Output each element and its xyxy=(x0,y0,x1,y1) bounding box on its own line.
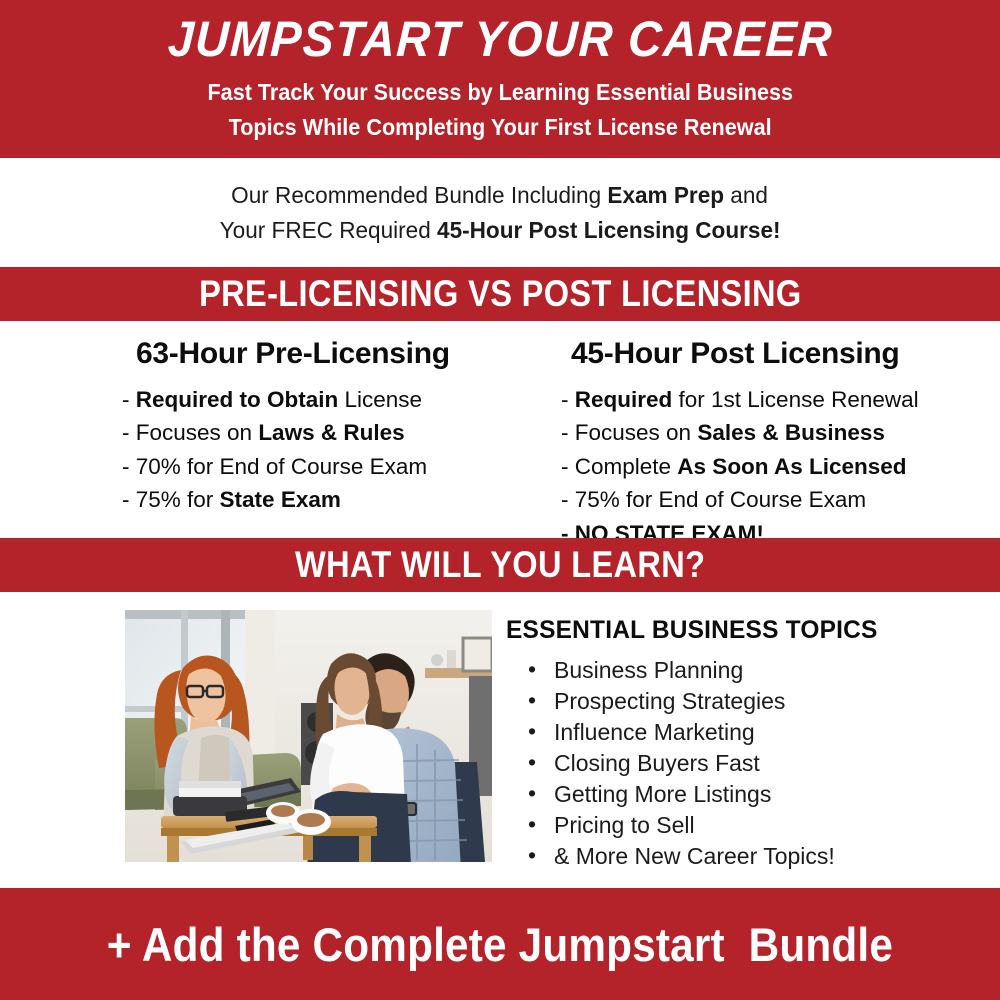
item-prefix: - 75% for End of Course Exam xyxy=(561,487,866,512)
consultation-photo xyxy=(125,610,492,862)
list-item: Getting More Listings xyxy=(528,779,976,810)
list-item: - Complete As Soon As Licensed xyxy=(561,450,1000,483)
learn-banner-title: WHAT WILL YOU LEARN? xyxy=(295,544,705,586)
compare-section-banner: PRE-LICENSING VS POST LICENSING xyxy=(0,267,1000,321)
comparison-section: 63-Hour Pre-Licensing - Required to Obta… xyxy=(0,321,1000,538)
item-bold: Required xyxy=(575,387,673,412)
list-item: Pricing to Sell xyxy=(528,810,976,841)
list-item: - 75% for End of Course Exam xyxy=(561,483,1000,516)
item-suffix: for 1st License Renewal xyxy=(672,387,918,412)
list-item: Closing Buyers Fast xyxy=(528,748,976,779)
list-item: Prospecting Strategies xyxy=(528,686,976,717)
hero-subtitle-line-2: Topics While Completing Your First Licen… xyxy=(228,111,771,144)
infographic-page: JUMPSTART YOUR CAREER Fast Track Your Su… xyxy=(0,0,1000,1000)
list-item: Influence Marketing xyxy=(528,717,976,748)
item-prefix: - xyxy=(561,387,575,412)
learn-section: ESSENTIAL BUSINESS TOPICS Business Plann… xyxy=(0,592,1000,888)
topics-heading: ESSENTIAL BUSINESS TOPICS xyxy=(506,616,967,645)
add-bundle-cta-banner[interactable]: + Add the Complete Jumpstart Bundle xyxy=(0,888,1000,1000)
hero-title: JUMPSTART YOUR CAREER xyxy=(166,14,833,65)
intro-line-2-bold: 45-Hour Post Licensing Course! xyxy=(437,217,780,243)
post-licensing-column: 45-Hour Post Licensing - Required for 1s… xyxy=(61,321,1000,538)
intro-line-2: Your FREC Required 45-Hour Post Licensin… xyxy=(220,213,781,248)
intro-line-1-post: and xyxy=(724,182,768,208)
list-item: - Focuses on Sales & Business xyxy=(561,416,1000,449)
intro-section: Our Recommended Bundle Including Exam Pr… xyxy=(0,158,1000,267)
item-bold: Sales & Business xyxy=(697,420,885,445)
hero-banner: JUMPSTART YOUR CAREER Fast Track Your Su… xyxy=(0,0,1000,158)
list-item: & More New Career Topics! xyxy=(528,841,976,872)
topics-list: Business Planning Prospecting Strategies… xyxy=(506,655,976,871)
intro-line-1: Our Recommended Bundle Including Exam Pr… xyxy=(232,178,769,213)
item-prefix: - Complete xyxy=(561,454,677,479)
list-item: Business Planning xyxy=(528,655,976,686)
intro-line-1-bold: Exam Prep xyxy=(608,182,725,208)
learn-section-banner: WHAT WILL YOU LEARN? xyxy=(0,538,1000,592)
topics-block: ESSENTIAL BUSINESS TOPICS Business Plann… xyxy=(506,616,976,871)
intro-line-1-pre: Our Recommended Bundle Including xyxy=(232,182,608,208)
consultation-photo-illustration xyxy=(125,610,492,862)
post-licensing-heading: 45-Hour Post Licensing xyxy=(561,337,1000,371)
add-bundle-cta-label: + Add the Complete Jumpstart Bundle xyxy=(107,917,893,972)
post-licensing-list: - Required for 1st License Renewal - Foc… xyxy=(561,383,1000,550)
item-prefix: - Focuses on xyxy=(561,420,697,445)
list-item: - Required for 1st License Renewal xyxy=(561,383,1000,416)
item-bold: As Soon As Licensed xyxy=(677,454,906,479)
intro-line-2-pre: Your FREC Required xyxy=(220,217,437,243)
compare-banner-title: PRE-LICENSING VS POST LICENSING xyxy=(199,273,801,315)
hero-subtitle-line-1: Fast Track Your Success by Learning Esse… xyxy=(207,76,793,109)
